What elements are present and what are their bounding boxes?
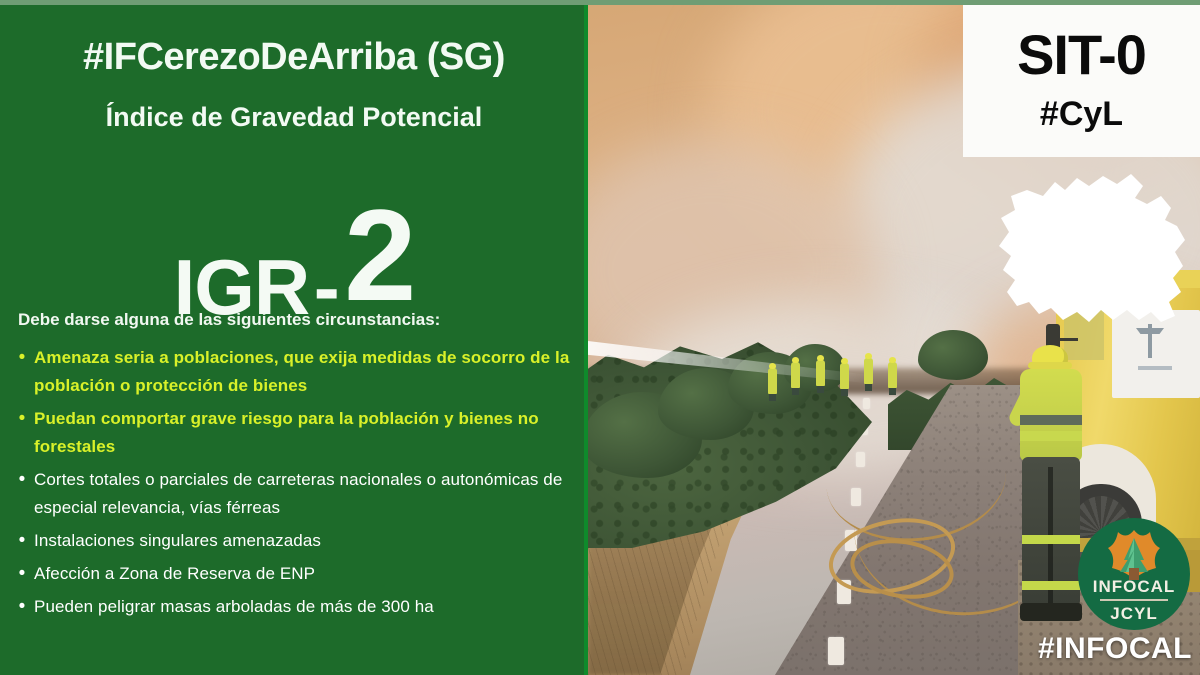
- criteria-item: •Cortes totales o parciales de carretera…: [10, 466, 585, 522]
- bullet-icon: •: [10, 560, 34, 588]
- criteria-item: •Puedan comportar grave riesgo para la p…: [10, 405, 585, 461]
- logo-name: INFOCAL: [1078, 578, 1190, 595]
- bullet-icon: •: [10, 344, 34, 372]
- infographic-canvas: SIT-0 #CyL INFOCAL JCYL #INFOCAL #IFCere…: [0, 0, 1200, 675]
- firefighter-distant: [864, 358, 873, 384]
- road-dash: [828, 637, 844, 665]
- road-dash: [863, 398, 870, 409]
- castilla-y-leon-map-icon: [985, 160, 1200, 370]
- firefighter-distant: [791, 362, 800, 388]
- bullet-icon: •: [10, 405, 34, 433]
- bullet-icon: •: [10, 527, 34, 555]
- criteria-lead: Debe darse alguna de las siguientes circ…: [18, 310, 578, 330]
- page-subtitle: Índice de Gravedad Potencial: [0, 104, 588, 131]
- top-edge-strip: [0, 0, 1200, 5]
- page-title: #IFCerezoDeArriba (SG): [0, 38, 588, 76]
- situation-badge: SIT-0 #CyL: [963, 0, 1200, 157]
- situation-level: SIT-0: [1017, 27, 1146, 83]
- region-hashtag: #CyL: [1040, 97, 1123, 131]
- logo-divider: [1100, 599, 1168, 601]
- criteria-text: Amenaza seria a poblaciones, que exija m…: [34, 344, 585, 400]
- firefighter-boots: [1020, 603, 1082, 621]
- infocal-hashtag: #INFOCAL: [1030, 632, 1200, 666]
- bullet-icon: •: [10, 466, 34, 494]
- criteria-list: •Amenaza seria a poblaciones, que exija …: [10, 344, 585, 626]
- igr-value: 2: [344, 182, 414, 328]
- firefighter-distant: [840, 363, 849, 389]
- infocal-logo: INFOCAL JCYL: [1078, 518, 1190, 630]
- logo-org: JCYL: [1078, 605, 1190, 622]
- reflective-band: [1022, 535, 1080, 544]
- info-panel: #IFCerezoDeArriba (SG) Índice de Graveda…: [0, 0, 588, 675]
- criteria-item: •Instalaciones singulares amenazadas: [10, 527, 585, 555]
- criteria-text: Afección a Zona de Reserva de ENP: [34, 560, 585, 588]
- criteria-item: •Afección a Zona de Reserva de ENP: [10, 560, 585, 588]
- criteria-text: Puedan comportar grave riesgo para la po…: [34, 405, 585, 461]
- reflective-band: [1022, 581, 1080, 590]
- bush: [918, 330, 988, 380]
- firefighter-distant: [816, 360, 825, 386]
- bullet-icon: •: [10, 593, 34, 621]
- reflective-band: [1020, 431, 1082, 441]
- criteria-text: Cortes totales o parciales de carreteras…: [34, 466, 585, 522]
- criteria-item: •Pueden peligrar masas arboladas de más …: [10, 593, 585, 621]
- criteria-item: •Amenaza seria a poblaciones, que exija …: [10, 344, 585, 400]
- firefighter-distant: [888, 362, 897, 388]
- firefighter-foreground: [988, 345, 1098, 645]
- criteria-text: Pueden peligrar masas arboladas de más d…: [34, 593, 585, 621]
- flame-tree-icon: [1102, 528, 1166, 580]
- igr-display: IGR - 2: [0, 190, 588, 326]
- criteria-text: Instalaciones singulares amenazadas: [34, 527, 585, 555]
- reflective-band: [1020, 415, 1082, 425]
- firefighter-distant: [768, 368, 777, 394]
